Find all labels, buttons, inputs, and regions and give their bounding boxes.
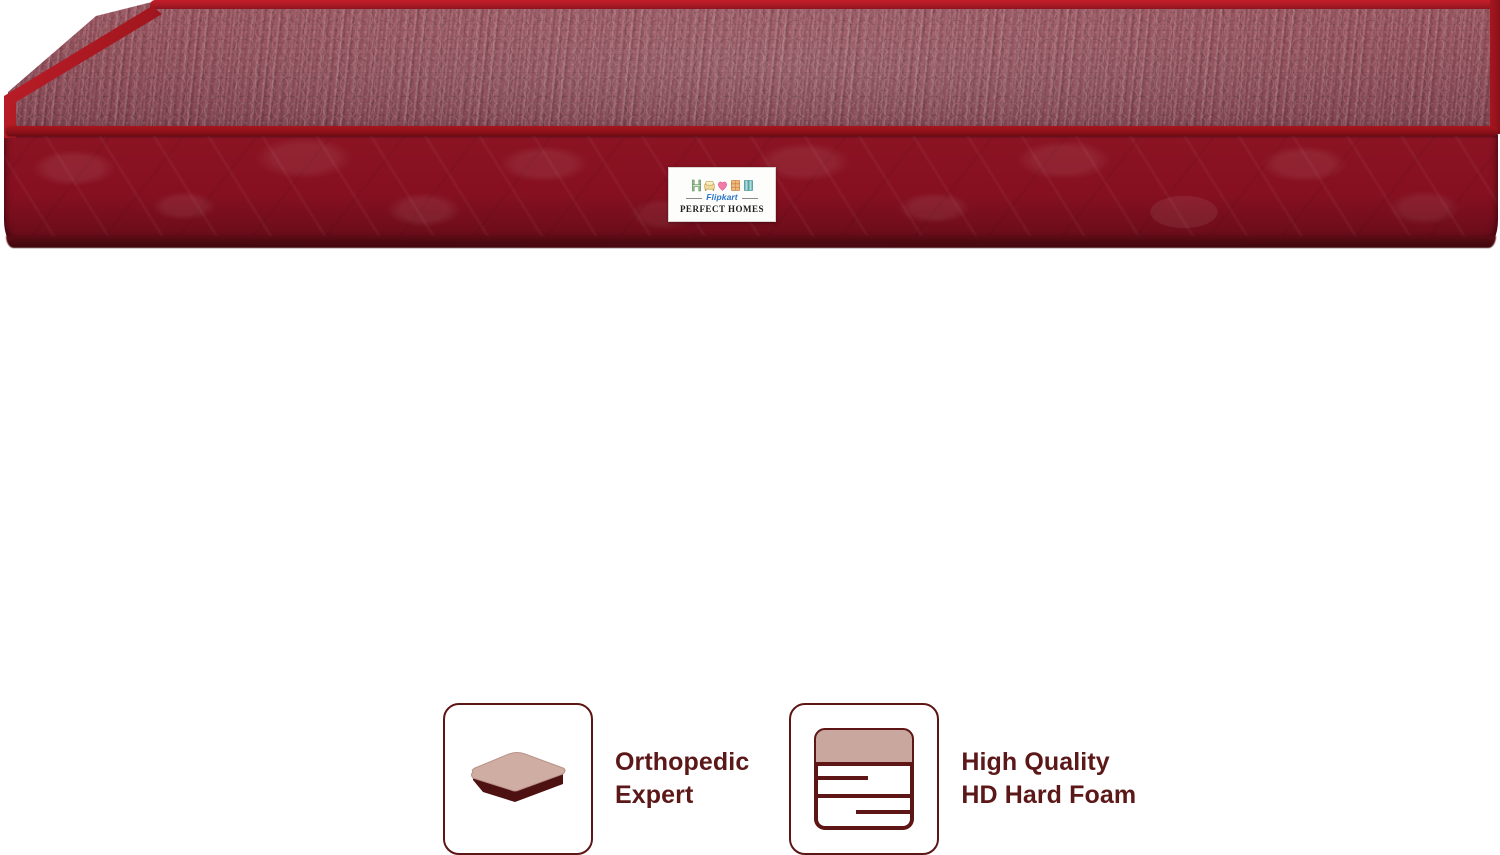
foam-label: High Quality HD Hard Foam — [961, 746, 1136, 812]
sofa-icon — [704, 179, 715, 192]
chair-icon — [691, 179, 702, 192]
brand-name: Flipkart — [706, 193, 738, 202]
mattress-top-fabric-texture — [0, 0, 1500, 140]
wardrobe-icon — [743, 179, 754, 192]
orthopedic-icon-box — [443, 703, 593, 855]
mattress-piping-seam — [6, 126, 1498, 136]
mattress-piping-top-edge — [150, 0, 1500, 9]
feature-orthopedic-expert: Orthopedic Expert — [443, 703, 749, 855]
brand-label-icon-row — [691, 177, 754, 192]
product-image: Flipkart PERFECT HOMES — [0, 0, 1500, 270]
feature-hd-hard-foam: High Quality HD Hard Foam — [789, 703, 1136, 855]
brand-label-tag: Flipkart PERFECT HOMES — [668, 167, 776, 222]
brand-tagline: PERFECT HOMES — [680, 205, 764, 214]
mattress-isometric-icon — [463, 744, 573, 814]
foam-icon-box — [789, 703, 939, 855]
heart-icon — [717, 179, 728, 192]
orthopedic-label: Orthopedic Expert — [615, 746, 749, 812]
mattress-ground-shadow — [20, 244, 1480, 252]
foam-layers-icon — [812, 726, 916, 832]
dresser-icon — [730, 179, 741, 192]
feature-badges: Orthopedic Expert High Quality HD Hard F… — [443, 703, 1163, 855]
mattress-piping-right-edge — [1490, 0, 1500, 134]
